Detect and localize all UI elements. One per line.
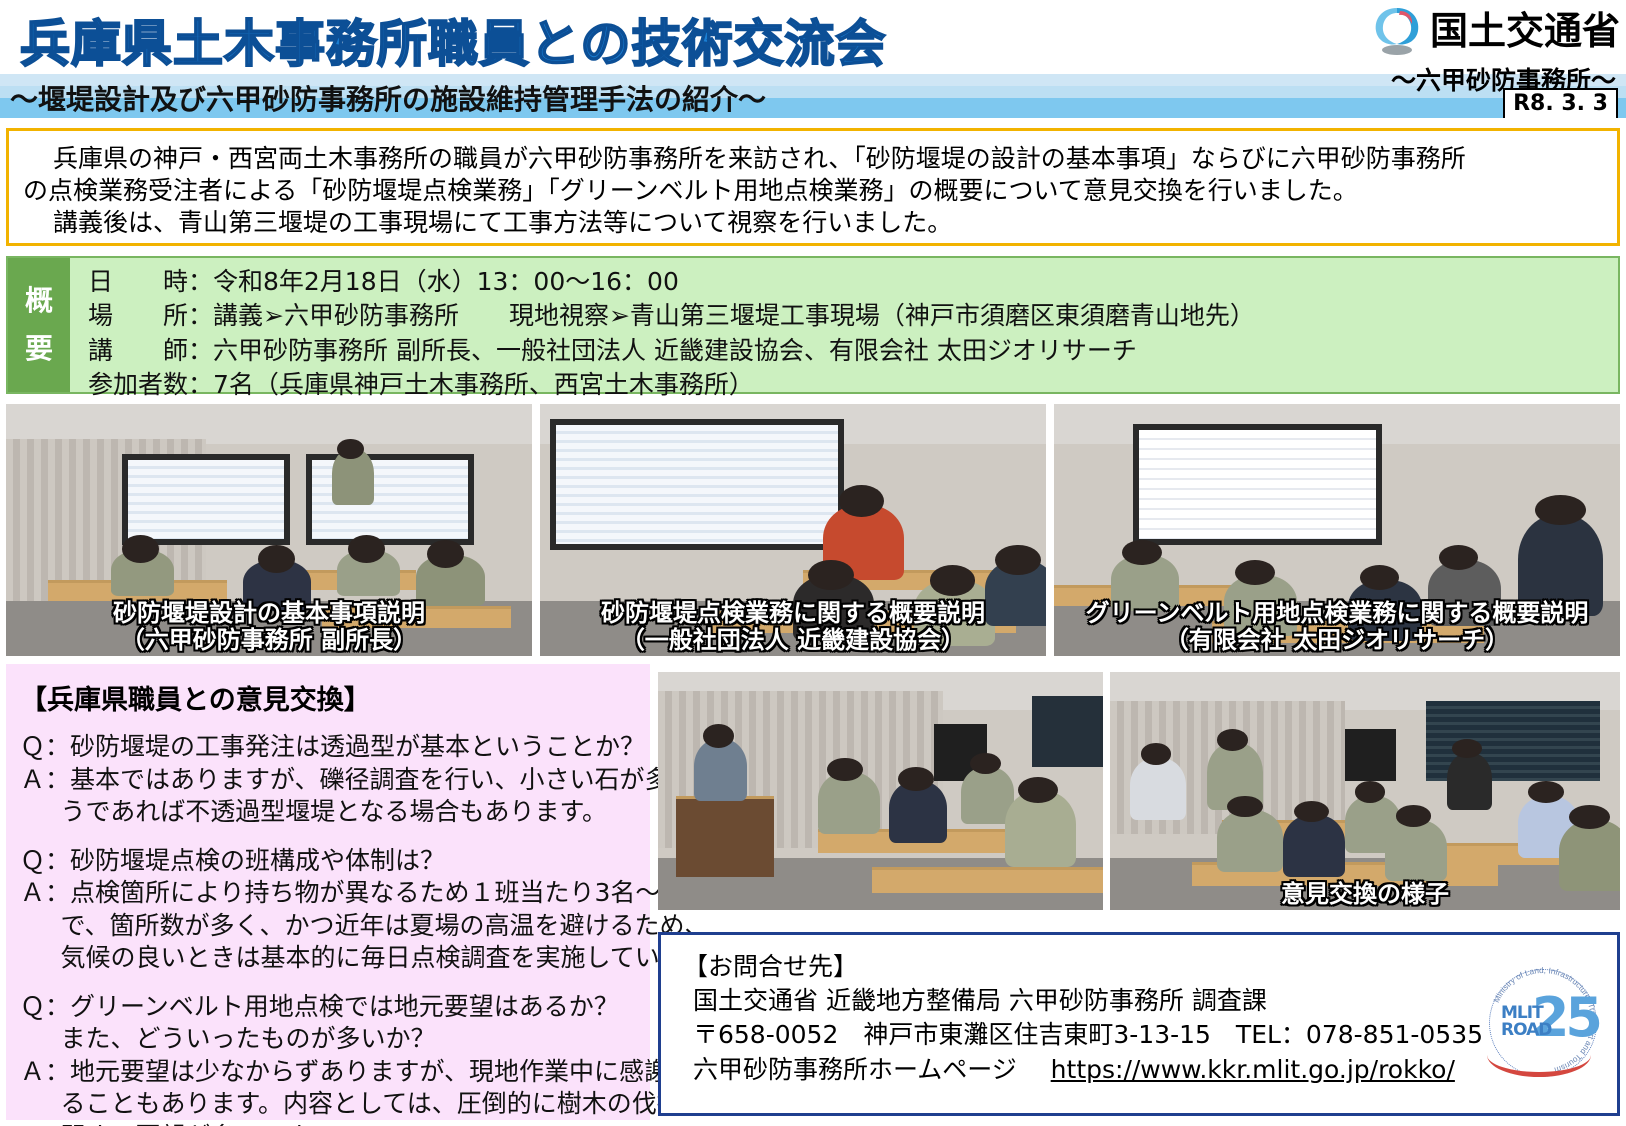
photo-scene	[658, 672, 1103, 910]
caption-line-2: （一般社団法人 近畿建設協会）	[540, 627, 1046, 654]
logo-swoosh	[1487, 1033, 1591, 1077]
photo-scene	[1110, 672, 1620, 910]
contact-address: 〒658-0052 神戸市東灘区住吉東町3-13-15 TEL：078-851-…	[683, 1018, 1601, 1053]
qa-question: Ｑ：砂防堰堤の工事発注は透過型が基本ということか？	[20, 731, 638, 764]
contact-homepage-label: 六甲砂防事務所ホームページ	[693, 1055, 1017, 1084]
photo-caption: グリーンベルト用地点検業務に関する概要説明 （有限会社 太田ジオリサーチ）	[1054, 600, 1620, 654]
photo-inspection-overview: 砂防堰堤点検業務に関する概要説明 （一般社団法人 近畿建設協会）	[540, 404, 1046, 656]
contact-homepage-row: 六甲砂防事務所ホームページ https://www.kkr.mlit.go.jp…	[683, 1053, 1601, 1088]
contact-box: 【お問合せ先】 国土交通省 近畿地方整備局 六甲砂防事務所 調査課 〒658-0…	[658, 932, 1620, 1116]
qa-answer: Ａ：地元要望は少なからずありますが、現地作業中に感謝され	[20, 1056, 638, 1089]
caption-line-2: （六甲砂防事務所 副所長）	[6, 627, 532, 654]
caption-line-2: （有限会社 太田ジオリサーチ）	[1054, 627, 1620, 654]
qa-answer: Ａ：基本ではありますが、礫径調査を行い、小さい石が多いよ	[20, 764, 638, 797]
summary-lecturers: 講 師：六甲砂防事務所 副所長、一般社団法人 近畿建設協会、有限会社 太田ジオリ…	[88, 334, 1618, 368]
contact-title: 【お問合せ先】	[683, 951, 1601, 984]
mlit-wave-logo-icon	[1370, 5, 1424, 57]
photo-caption: 砂防堰堤点検業務に関する概要説明 （一般社団法人 近畿建設協会）	[540, 600, 1046, 654]
date-badge: R8. 3. 3	[1503, 88, 1618, 118]
qa-answer-cont: で、箇所数が多く、かつ近年は夏場の高温を避けるため、	[20, 910, 638, 943]
intro-line-2: の点検業務受注者による「砂防堰堤点検業務」「グリーンベルト用地点検業務」の概要に…	[23, 175, 1603, 207]
caption-line-1: 砂防堰堤点検業務に関する概要説明	[540, 600, 1046, 627]
qa-question: Ｑ：グリーンベルト用地点検では地元要望はあるか？	[20, 991, 638, 1024]
summary-tab-label: 概 要	[8, 258, 70, 392]
qa-answer-cont: うであれば不透過型堰堤となる場合もあります。	[20, 796, 638, 829]
contact-homepage-link[interactable]: https://www.kkr.mlit.go.jp/rokko/	[1051, 1055, 1455, 1084]
poster-page: 兵庫県土木事務所職員との技術交流会 ～堰堤設計及び六甲砂防事務所の施設維持管理手…	[0, 0, 1626, 1126]
qa-title: 【兵庫県職員との意見交換】	[20, 678, 638, 717]
caption-line-1: グリーンベルト用地点検業務に関する概要説明	[1054, 600, 1620, 627]
photo-caption: 意見交換の様子	[1110, 881, 1620, 908]
summary-body: 日 時：令和8年2月18日（水）13：00～16：00 場 所：講義➢六甲砂防事…	[70, 258, 1618, 392]
photo-discussion-left	[658, 672, 1103, 910]
contact-org: 国土交通省 近畿地方整備局 六甲砂防事務所 調査課	[683, 984, 1601, 1019]
ministry-name: 国土交通省	[1430, 12, 1620, 50]
photo-greenbelt-overview: グリーンベルト用地点検業務に関する概要説明 （有限会社 太田ジオリサーチ）	[1054, 404, 1620, 656]
intro-line-1: 兵庫県の神戸・西宮両土木事務所の職員が六甲砂防事務所を来訪され、「砂防堰堤の設計…	[23, 143, 1603, 175]
qa-box: 【兵庫県職員との意見交換】 Ｑ：砂防堰堤の工事発注は透過型が基本ということか？ …	[6, 664, 650, 1120]
qa-answer: Ａ：点検箇所により持ち物が異なるため１班当たり3名～4名	[20, 877, 638, 910]
mlit-road-25-logo-icon: Ministry of Land, Infrastructure, Transp…	[1479, 961, 1605, 1087]
photo-row-bottom: 意見交換の様子	[658, 672, 1620, 910]
page-subtitle: ～堰堤設計及び六甲砂防事務所の施設維持管理手法の紹介～	[10, 78, 766, 118]
photo-row-top: 砂防堰堤設計の基本事項説明 （六甲砂防事務所 副所長） 砂防堰堤点検業務に	[6, 404, 1620, 656]
photo-discussion-right: 意見交換の様子	[1110, 672, 1620, 910]
page-title: 兵庫県土木事務所職員との技術交流会	[20, 4, 887, 76]
qa-question-cont: また、どういったものが多いか？	[20, 1023, 638, 1056]
photo-caption: 砂防堰堤設計の基本事項説明 （六甲砂防事務所 副所長）	[6, 600, 532, 654]
intro-line-3: 講義後は、青山第三堰堤の工事現場にて工事方法等について視察を行いました。	[23, 207, 1603, 239]
summary-place: 場 所：講義➢六甲砂防事務所 現地視察➢青山第三堰堤工事現場（神戸市須磨区東須磨…	[88, 299, 1618, 333]
qa-answer-cont: 気候の良いときは基本的に毎日点検調査を実施しています。	[20, 942, 638, 975]
qa-item: Ｑ：砂防堰堤の工事発注は透過型が基本ということか？ Ａ：基本ではありますが、礫径…	[20, 731, 638, 829]
summary-participants: 参加者数：7名（兵庫県神戸土木事務所、西宮土木事務所）	[88, 368, 1618, 402]
summary-tab-char-2: 要	[25, 325, 53, 373]
qa-item: Ｑ：グリーンベルト用地点検では地元要望はあるか？ また、どういったものが多いか？…	[20, 991, 638, 1126]
photo-basic-design-lecture: 砂防堰堤設計の基本事項説明 （六甲砂防事務所 副所長）	[6, 404, 532, 656]
qa-item: Ｑ：砂防堰堤点検の班構成や体制は？ Ａ：点検箇所により持ち物が異なるため１班当た…	[20, 845, 638, 975]
qa-answer-cont: 関する要望が多いです。	[20, 1121, 638, 1126]
qa-question: Ｑ：砂防堰堤点検の班構成や体制は？	[20, 845, 638, 878]
summary-box: 概 要 日 時：令和8年2月18日（水）13：00～16：00 場 所：講義➢六…	[6, 256, 1620, 394]
summary-tab-char-1: 概	[25, 277, 53, 325]
qa-answer-cont: ることもあります。内容としては、圧倒的に樹木の伐採に	[20, 1088, 638, 1121]
summary-datetime: 日 時：令和8年2月18日（水）13：00～16：00	[88, 265, 1618, 299]
intro-box: 兵庫県の神戸・西宮両土木事務所の職員が六甲砂防事務所を来訪され、「砂防堰堤の設計…	[6, 128, 1620, 246]
caption-line-1: 砂防堰堤設計の基本事項説明	[6, 600, 532, 627]
page-header: 兵庫県土木事務所職員との技術交流会 ～堰堤設計及び六甲砂防事務所の施設維持管理手…	[0, 0, 1626, 118]
